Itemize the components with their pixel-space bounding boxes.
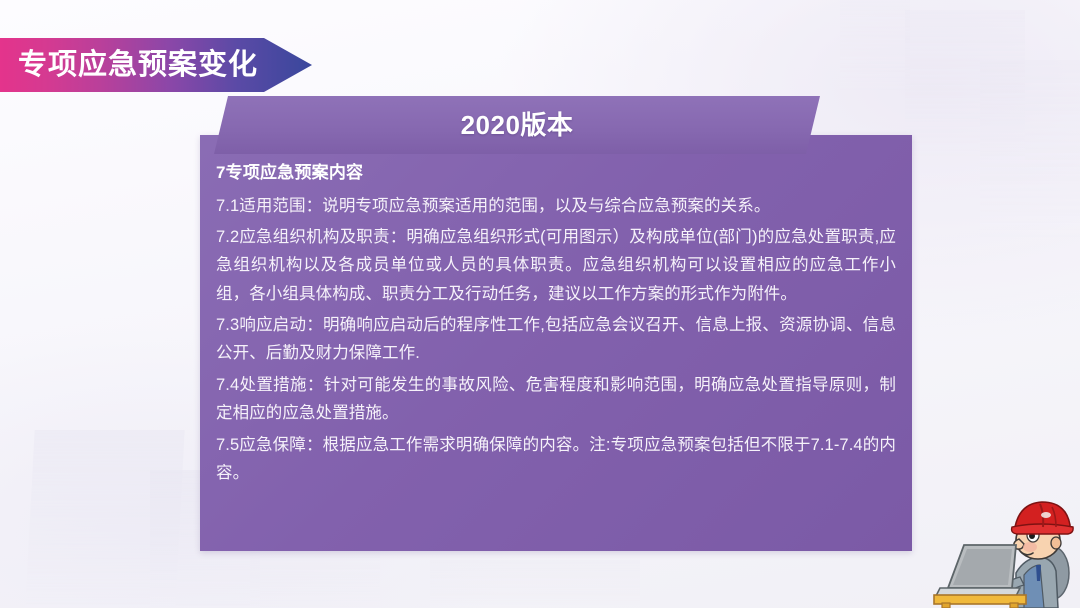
content-paragraph: 7.5应急保障：根据应急工作需求明确保障的内容。注:专项应急预案包括但不限于7.… bbox=[216, 431, 896, 488]
worker-at-laptop-illustration bbox=[920, 495, 1080, 608]
content-paragraph: 7.3响应启动：明确响应启动后的程序性工作,包括应急会议召开、信息上报、资源协调… bbox=[216, 311, 896, 368]
title-banner: 专项应急预案变化 bbox=[0, 38, 312, 92]
background-shape bbox=[980, 60, 1080, 240]
content-body: 7专项应急预案内容 7.1适用范围：说明专项应急预案适用的范围，以及与综合应急预… bbox=[216, 160, 896, 490]
background-shape bbox=[905, 10, 1025, 160]
background-shape bbox=[430, 560, 640, 608]
background-shape bbox=[840, 0, 910, 90]
content-paragraph: 7.4处置措施：针对可能发生的事故风险、危害程度和影响范围，明确应急处置指导原则… bbox=[216, 371, 896, 428]
background-shape bbox=[25, 430, 184, 608]
version-label: 2020版本 bbox=[461, 112, 574, 138]
version-ribbon: 2020版本 bbox=[214, 96, 820, 154]
content-paragraph: 7.1适用范围：说明专项应急预案适用的范围，以及与综合应急预案的关系。 bbox=[216, 192, 896, 220]
content-heading: 7专项应急预案内容 bbox=[216, 160, 896, 186]
slide-root: 专项应急预案变化 2020版本 7专项应急预案内容 7.1适用范围：说明专项应急… bbox=[0, 0, 1080, 608]
page-title: 专项应急预案变化 bbox=[0, 51, 258, 80]
content-paragraph: 7.2应急组织机构及职责：明确应急组织形式(可用图示）及构成单位(部门)的应急处… bbox=[216, 223, 896, 308]
